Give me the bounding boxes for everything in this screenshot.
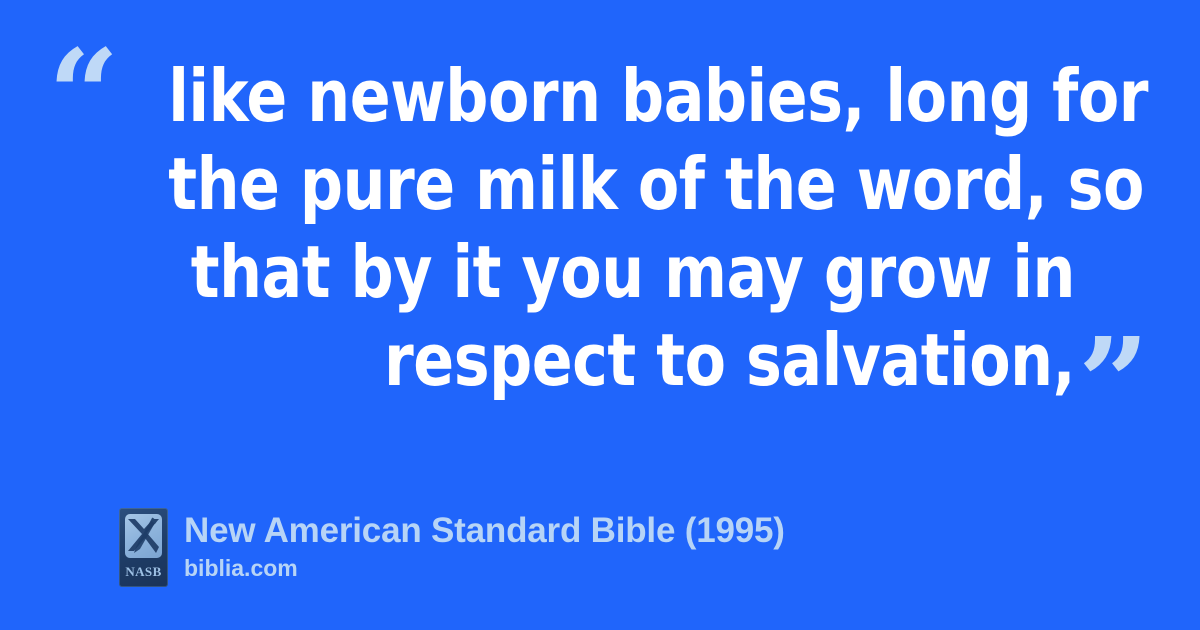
quote-text: like newborn babies, long for the pure m… — [100, 52, 1075, 404]
quote-card: “ like newborn babies, long for the pure… — [0, 0, 1200, 630]
attribution-text: New American Standard Bible (1995) bibli… — [184, 508, 785, 582]
website-link[interactable]: biblia.com — [184, 555, 785, 582]
logo-wordmark: NASB — [119, 564, 168, 580]
quote-block: like newborn babies, long for the pure m… — [0, 40, 1200, 440]
quote-line-3: that by it you may grow in — [168, 228, 1075, 316]
quote-line-4: respect to salvation, — [168, 316, 1075, 404]
nasb-logo-icon: NASB — [119, 508, 168, 587]
attribution: NASB New American Standard Bible (1995) … — [119, 508, 785, 587]
quote-line-1: like newborn babies, long for — [168, 52, 1075, 140]
close-quote-icon: ” — [1078, 322, 1149, 446]
logo-quill-cross-icon — [125, 514, 162, 558]
bible-version-title: New American Standard Bible (1995) — [184, 510, 785, 552]
quote-line-2: the pure milk of the word, so — [168, 140, 1075, 228]
